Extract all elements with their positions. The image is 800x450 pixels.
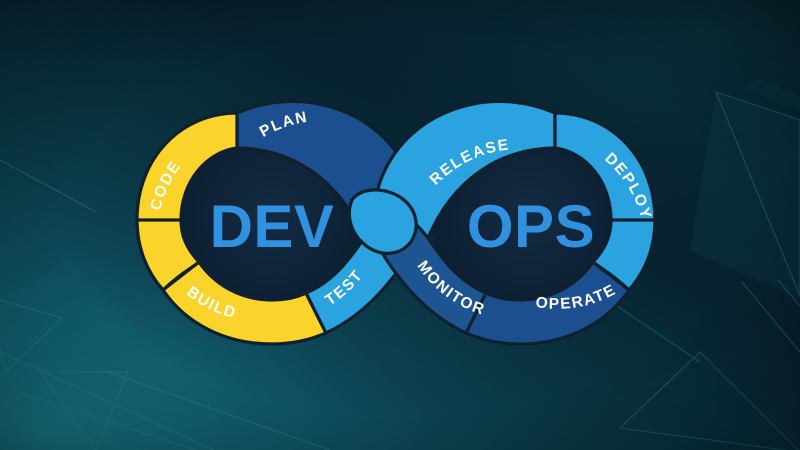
devops-infinity-svg: PLAN CODE BUILD TEST RELEASE DEPLOY OPER… [0, 0, 800, 450]
core-label-ops: OPS [467, 193, 595, 260]
devops-diagram-canvas: PLAN CODE BUILD TEST RELEASE DEPLOY OPER… [0, 0, 800, 450]
core-label-dev: DEV [210, 193, 335, 260]
